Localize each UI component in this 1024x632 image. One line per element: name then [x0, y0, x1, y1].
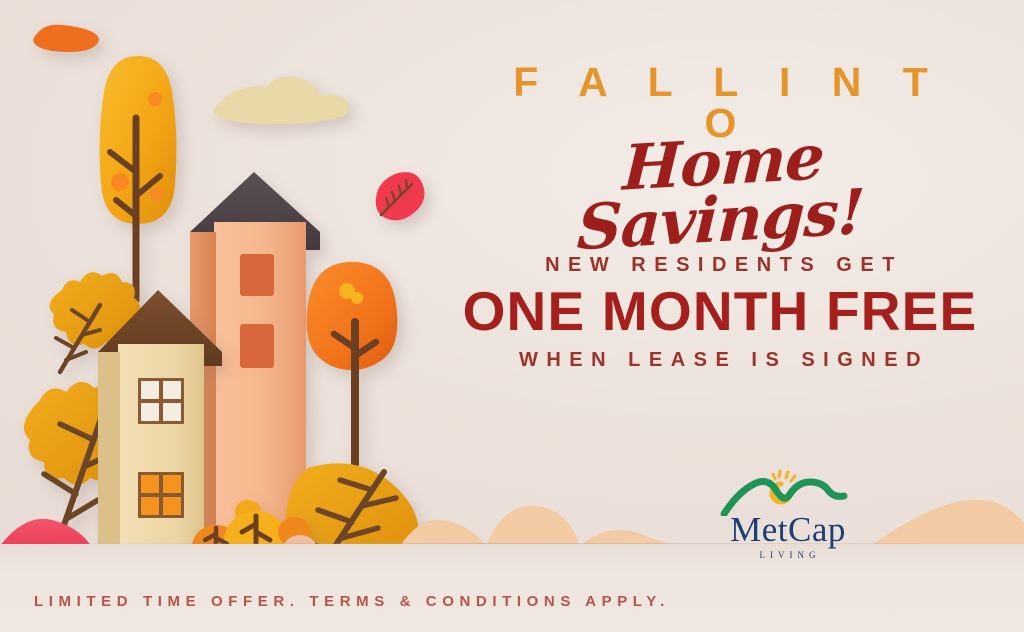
headline-block: F A L L I N T O Home Savings! — [492, 62, 952, 248]
red-leaf-shape — [376, 172, 425, 220]
metcap-tagline: LIVING — [722, 550, 858, 560]
yellow-cone-tree-shape — [100, 56, 177, 300]
metcap-wordmark: MetCap — [718, 512, 858, 547]
metcap-logo[interactable]: MetCap LIVING — [718, 468, 858, 560]
green-wave-icon — [724, 482, 844, 514]
offer-footnote: WHEN LEASE IS SIGNED — [448, 349, 1000, 372]
tan-hill-right — [870, 476, 1024, 546]
offer-headline: ONE MONTH FREE — [440, 281, 1000, 343]
ground-plane — [0, 544, 1024, 632]
disclaimer-text: LIMITED TIME OFFER. TERMS & CONDITIONS A… — [34, 593, 670, 610]
offer-block: NEW RESIDENTS GET ONE MONTH FREE WHEN LE… — [440, 254, 1000, 372]
promo-banner: F A L L I N T O Home Savings! NEW RESIDE… — [0, 0, 1024, 632]
metcap-logo-mark — [718, 468, 858, 516]
orange-blob-tree-shape — [307, 262, 398, 470]
offer-eyebrow: NEW RESIDENTS GET — [448, 254, 1000, 277]
tan-hill-left — [400, 466, 760, 546]
cream-cloud-shape — [213, 76, 350, 124]
orange-cloud-shape — [33, 25, 99, 52]
